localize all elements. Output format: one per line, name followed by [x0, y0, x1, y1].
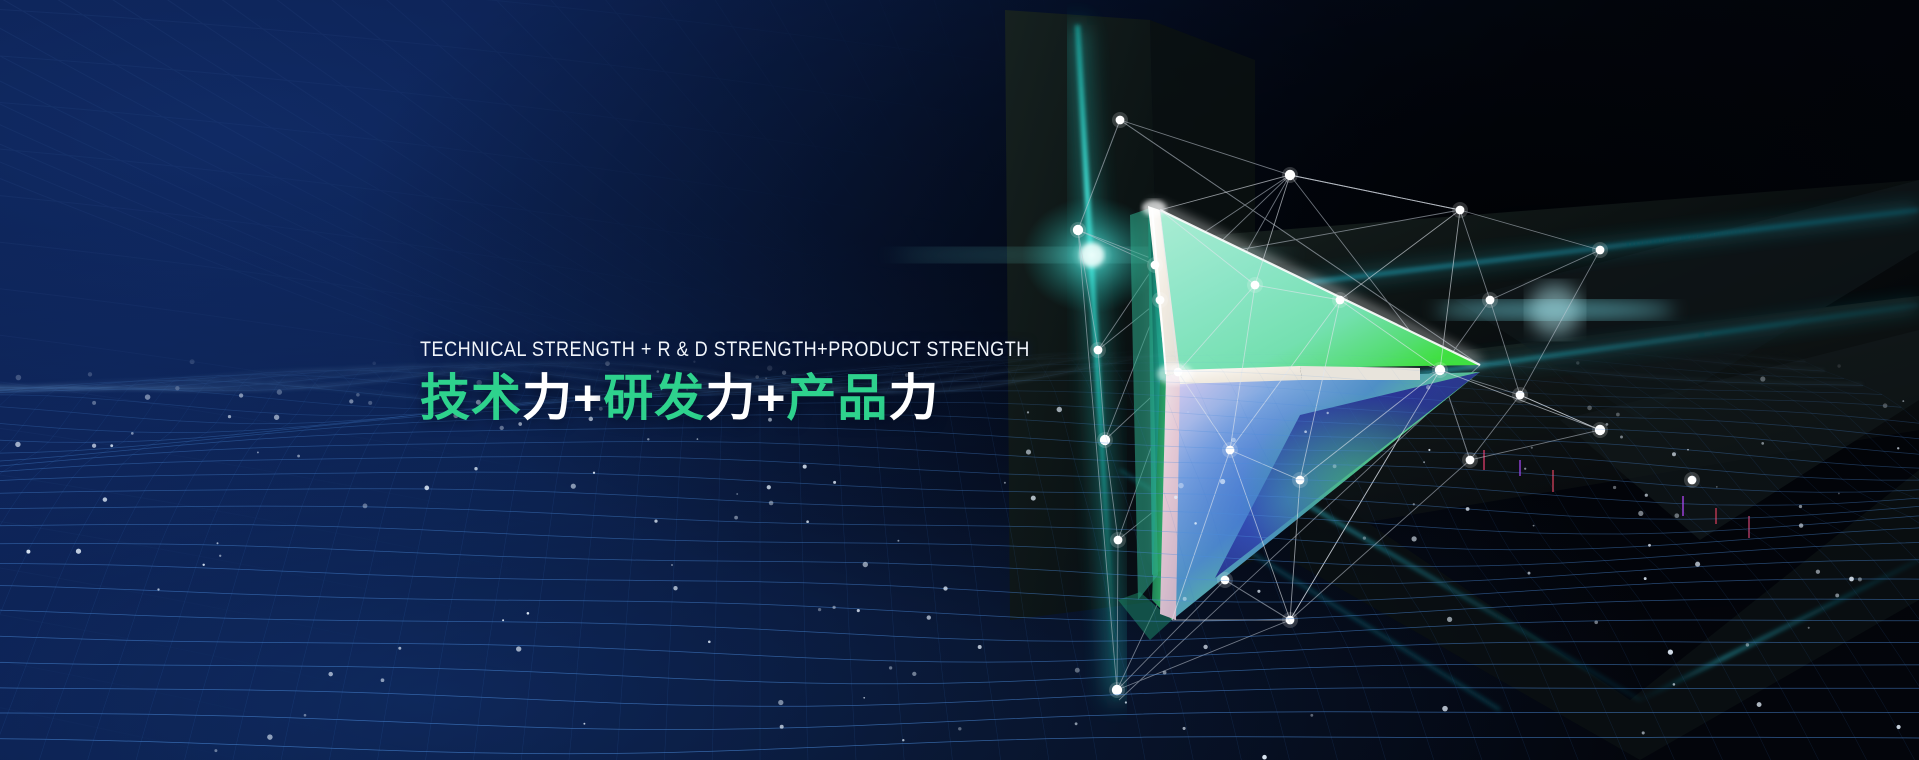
headline-segment-0: 技术	[420, 370, 522, 426]
subtitle-english: TECHNICAL STRENGTH + R & D STRENGTH+PROD…	[420, 338, 1030, 362]
headline-chinese: 技术力+研发力+产品力	[420, 370, 1129, 426]
hero-banner: TECHNICAL STRENGTH + R & D STRENGTH+PROD…	[0, 0, 1919, 760]
headline-segment-2: +	[573, 370, 603, 426]
hero-text-block: TECHNICAL STRENGTH + R & D STRENGTH+PROD…	[420, 338, 1129, 426]
headline-segment-7: 力	[888, 370, 939, 426]
headline-segment-5: +	[756, 370, 786, 426]
headline-segment-3: 研发	[603, 370, 705, 426]
headline-segment-4: 力	[705, 370, 756, 426]
headline-segment-6: 产品	[786, 370, 888, 426]
headline-segment-1: 力	[522, 370, 573, 426]
